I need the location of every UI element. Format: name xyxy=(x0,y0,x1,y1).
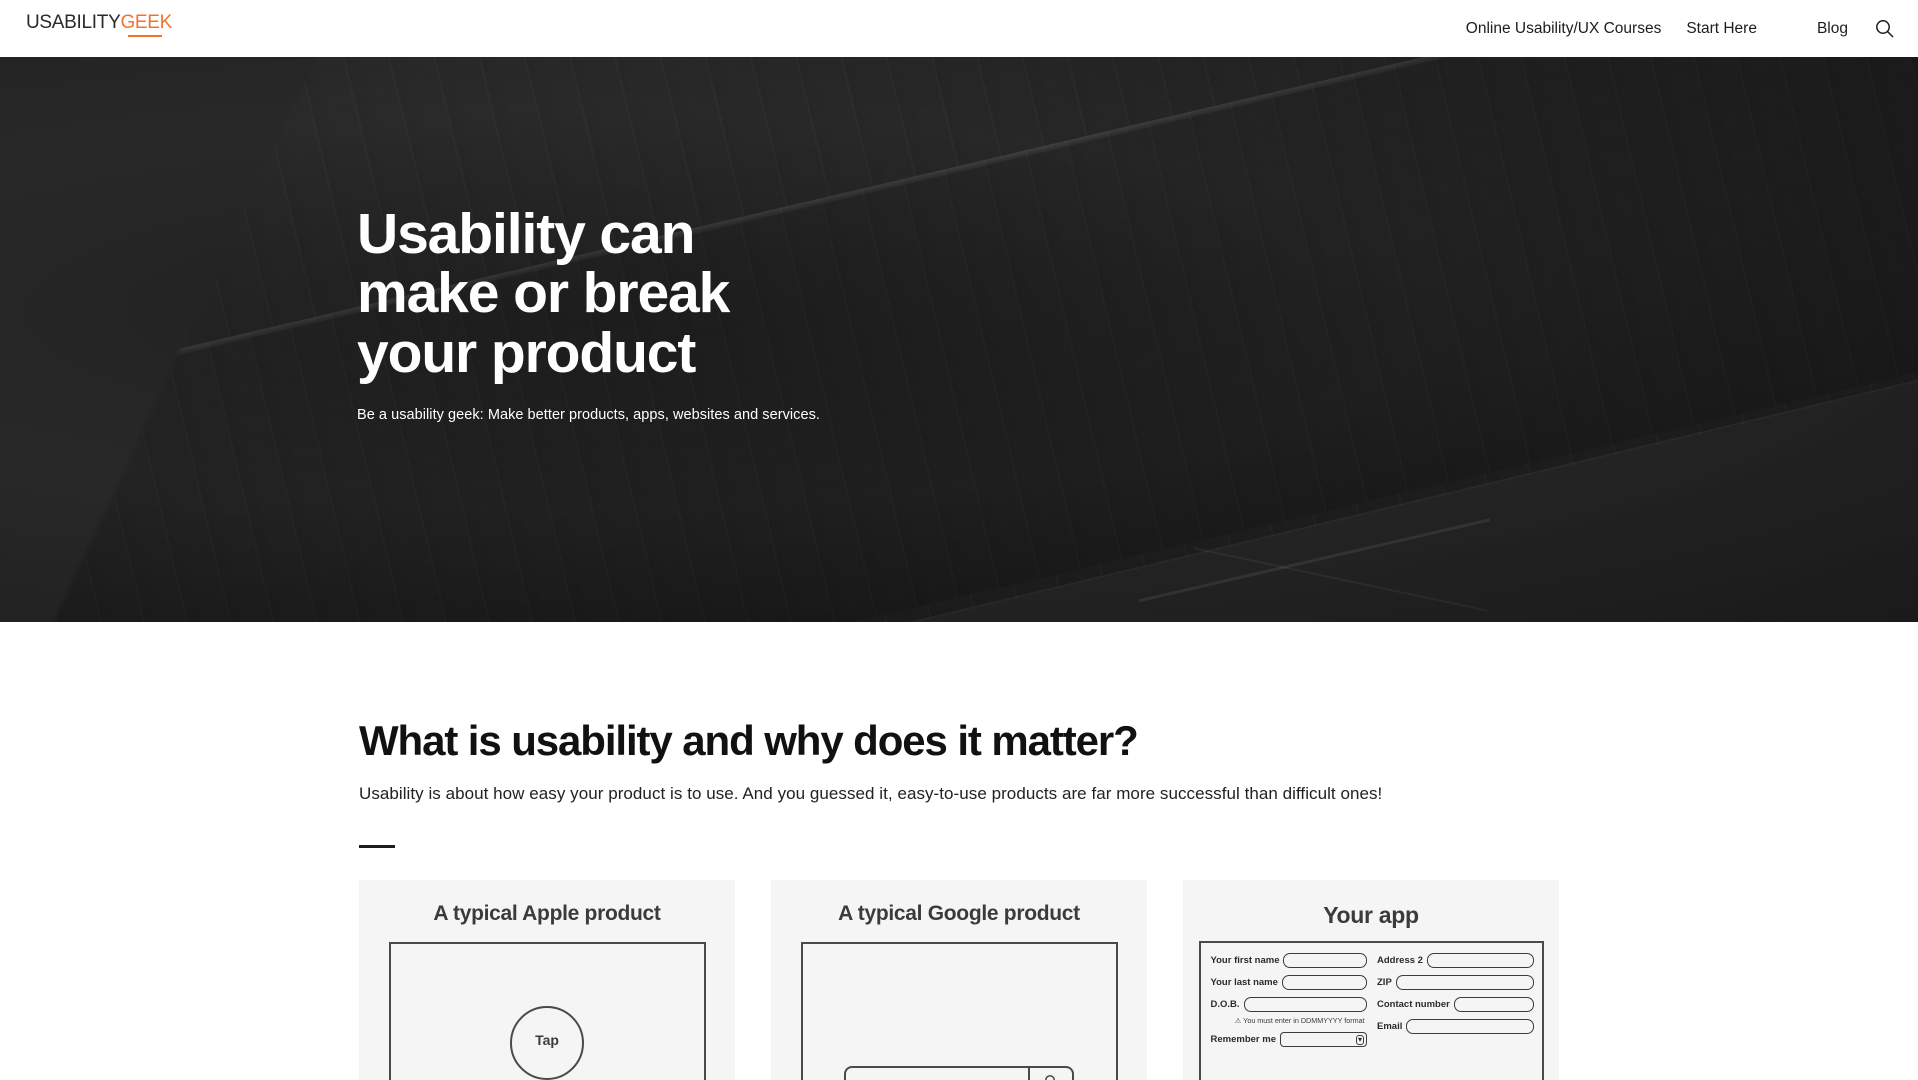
hero-section: Usability can make or break your product… xyxy=(0,57,1918,622)
chevron-down-icon: ▾ xyxy=(1356,1035,1364,1045)
hero-title-line-2: make or break xyxy=(357,261,729,325)
tap-button-label: Tap xyxy=(535,1032,559,1048)
search-icon[interactable] xyxy=(1872,17,1896,41)
hero-content: Usability can make or break your product… xyxy=(357,205,820,425)
field-email-input[interactable] xyxy=(1406,1019,1533,1034)
hero-title-line-1: Usability can xyxy=(357,202,694,266)
field-last-name[interactable]: Your last name xyxy=(1211,975,1368,990)
usability-inner: What is usability and why does it matter… xyxy=(359,718,1559,1080)
field-address-2[interactable]: Address 2 xyxy=(1377,953,1534,968)
app-form-left-column: Your first name Your last name D.O.B. xyxy=(1211,953,1368,1080)
hero-title-line-3: your product xyxy=(357,321,695,385)
app-form-right-column: Address 2 ZIP Contact number xyxy=(1377,953,1534,1080)
field-first-name[interactable]: Your first name xyxy=(1211,953,1368,968)
field-address-2-input[interactable] xyxy=(1427,953,1534,968)
usability-section: What is usability and why does it matter… xyxy=(0,622,1918,1080)
apple-device-frame: Tap xyxy=(389,942,706,1080)
page-title: What is usability and why does it matter… xyxy=(359,718,1559,764)
field-remember-me-select[interactable]: ▾ xyxy=(1280,1032,1367,1047)
field-email[interactable]: Email xyxy=(1377,1019,1534,1034)
card-apple-product: A typical Apple product Tap xyxy=(359,880,735,1080)
field-contact-number-input[interactable] xyxy=(1454,997,1534,1012)
card-apple-title: A typical Apple product xyxy=(433,902,660,926)
field-zip-label: ZIP xyxy=(1377,978,1392,988)
field-remember-me-label: Remember me xyxy=(1211,1035,1276,1045)
google-search-bar[interactable] xyxy=(844,1066,1074,1080)
site-header: USABILITYGEEK Online Usability/UX Course… xyxy=(0,0,1918,57)
card-app-title: Your app xyxy=(1323,902,1419,929)
google-device-frame xyxy=(801,942,1118,1080)
nav-blog[interactable]: Blog xyxy=(1817,21,1848,37)
field-address-2-label: Address 2 xyxy=(1377,956,1423,966)
field-contact-number[interactable]: Contact number xyxy=(1377,997,1534,1012)
logo-text-usability: USABILITY xyxy=(26,12,120,33)
field-dob[interactable]: D.O.B. xyxy=(1211,997,1368,1012)
card-your-app: Your app Your first name Your last name xyxy=(1183,880,1559,1080)
usability-lede: Usability is about how easy your product… xyxy=(359,782,1559,807)
field-zip-input[interactable] xyxy=(1396,975,1534,990)
nav-start-here[interactable]: Start Here xyxy=(1686,21,1757,37)
site-logo[interactable]: USABILITYGEEK xyxy=(26,13,172,32)
field-last-name-input[interactable] xyxy=(1282,975,1367,990)
search-icon[interactable] xyxy=(1028,1068,1072,1080)
main-navigation: Online Usability/UX Courses Start Here B… xyxy=(1466,0,1896,57)
card-google-product: A typical Google product xyxy=(771,880,1147,1080)
hero-subtitle: Be a usability geek: Make better product… xyxy=(357,405,820,425)
field-first-name-input[interactable] xyxy=(1283,953,1367,968)
field-dob-label: D.O.B. xyxy=(1211,1000,1240,1010)
hero-vignette xyxy=(0,57,1918,622)
hero-background-photo xyxy=(0,57,1918,622)
app-device-frame: Your first name Your last name D.O.B. xyxy=(1199,941,1544,1080)
field-contact-number-label: Contact number xyxy=(1377,1000,1450,1010)
section-divider xyxy=(359,845,395,848)
field-first-name-label: Your first name xyxy=(1211,956,1280,966)
field-dob-input[interactable] xyxy=(1244,997,1367,1012)
logo-text-geek: GEEK xyxy=(120,12,172,33)
product-cards-row: A typical Apple product Tap A typical Go… xyxy=(359,880,1559,1080)
tap-button[interactable]: Tap xyxy=(510,1006,584,1080)
hero-title: Usability can make or break your product xyxy=(357,205,787,383)
logo-underline xyxy=(128,35,162,37)
field-email-label: Email xyxy=(1377,1022,1402,1032)
nav-online-courses[interactable]: Online Usability/UX Courses xyxy=(1466,21,1662,37)
field-zip[interactable]: ZIP xyxy=(1377,975,1534,990)
card-google-title: A typical Google product xyxy=(838,902,1080,926)
google-search-input[interactable] xyxy=(846,1068,1028,1080)
field-dob-hint: ⚠ You must enter in DDMMYYYY format xyxy=(1211,1017,1368,1026)
field-last-name-label: Your last name xyxy=(1211,978,1278,988)
field-remember-me[interactable]: Remember me ▾ xyxy=(1211,1032,1368,1047)
app-form: Your first name Your last name D.O.B. xyxy=(1201,943,1542,1080)
